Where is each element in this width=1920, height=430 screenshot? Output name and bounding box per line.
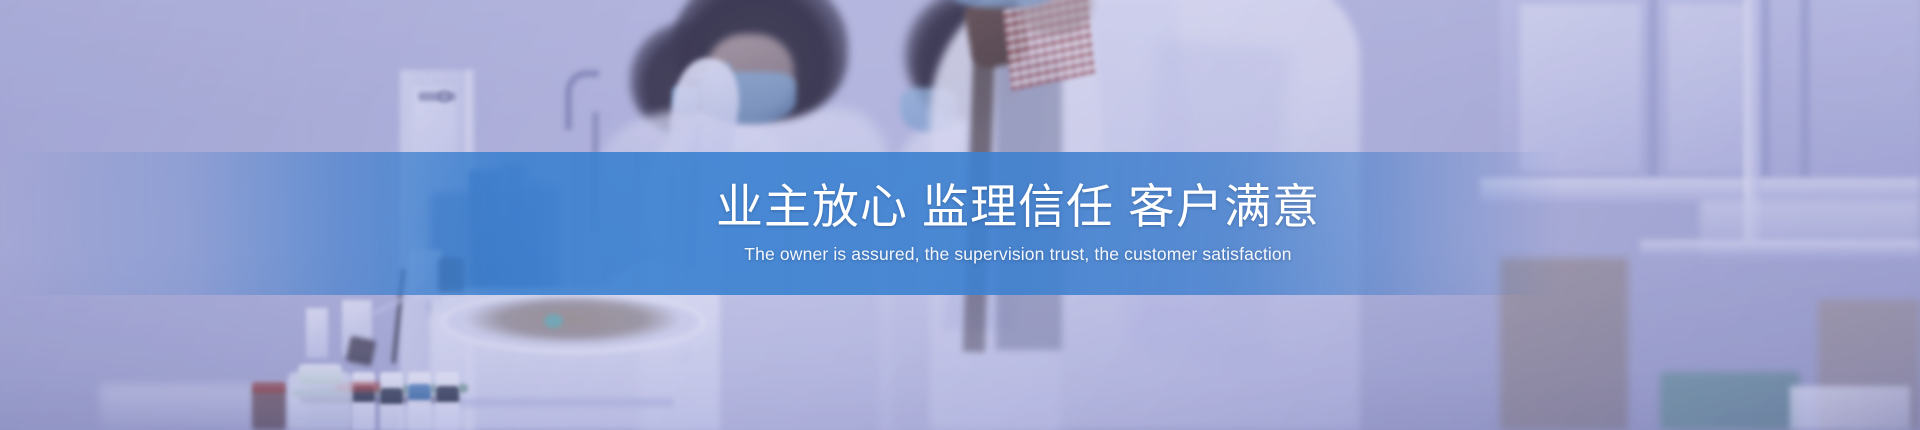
window-mullion [1760, 0, 1770, 178]
reagent-bottle-cap [252, 382, 286, 393]
power-plug [346, 336, 377, 367]
sample-cap [544, 314, 563, 328]
panel-ring [438, 90, 451, 103]
vial-cap [436, 386, 459, 402]
white-tray [1790, 386, 1910, 430]
banner-subheadline: The owner is assured, the supervision tr… [744, 244, 1291, 265]
reagent-bottle [252, 388, 286, 430]
vial-cap [408, 384, 431, 400]
centrifuge-base [458, 398, 674, 407]
window-mullion [1648, 0, 1658, 178]
banner-headline: 业主放心 监理信任 客户满意 [716, 182, 1320, 232]
sample-vial [408, 372, 431, 430]
window-mullion [1800, 0, 1810, 178]
window-pane [1668, 4, 1750, 172]
hero-banner: 业主放心 监理信任 客户满意 The owner is assured, the… [0, 0, 1920, 430]
teal-container [1660, 372, 1800, 430]
window-sill [1480, 178, 1920, 202]
window-pane [1520, 4, 1640, 172]
counter-edge [1640, 240, 1920, 256]
banner-text-block: 业主放心 监理信任 客户满意 The owner is assured, the… [518, 152, 1518, 295]
storage-box [1500, 258, 1628, 430]
wall-socket [306, 308, 328, 358]
vial-cap [380, 388, 403, 404]
power-plug [438, 258, 464, 292]
water-bottle-cap [298, 364, 342, 384]
centrifuge-rim [440, 290, 706, 354]
